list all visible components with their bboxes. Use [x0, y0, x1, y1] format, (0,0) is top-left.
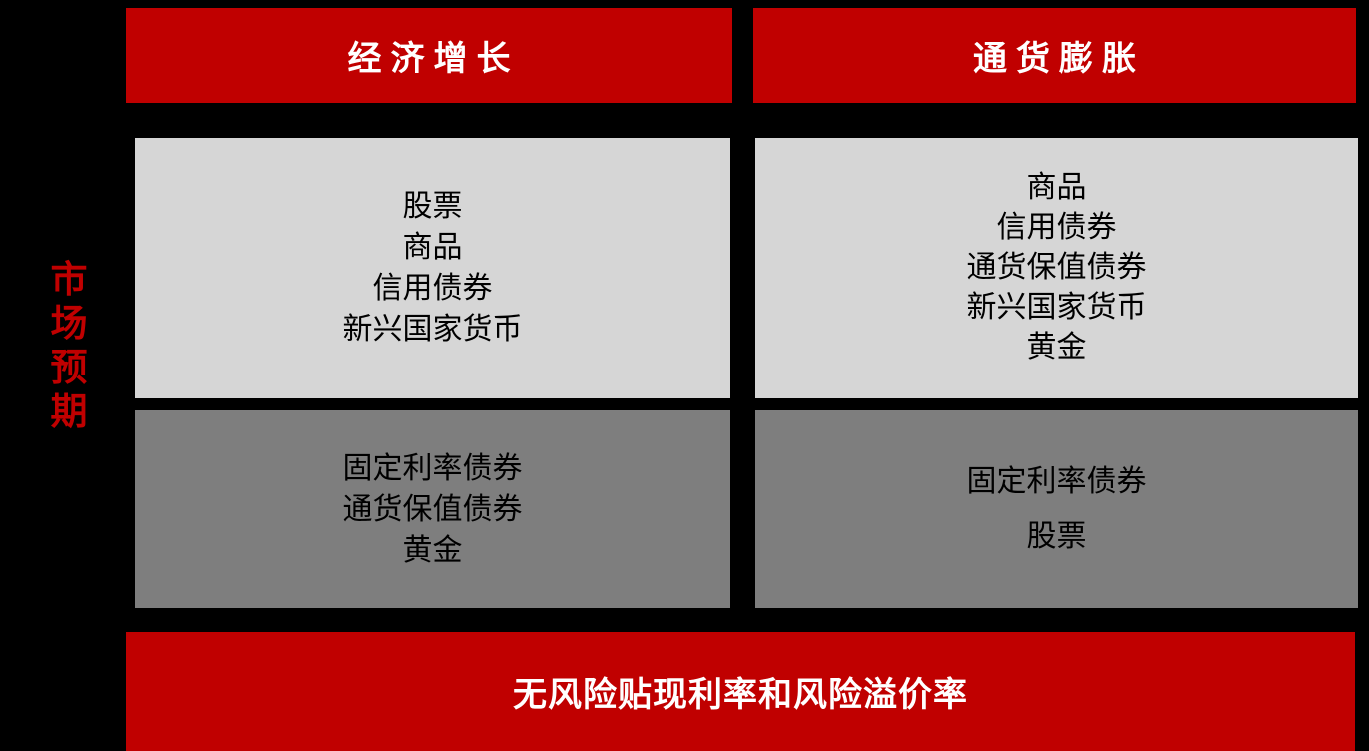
row-axis-label-char-3: 预 [51, 346, 88, 390]
cell-item: 通货保值债券 [967, 248, 1147, 288]
cell-item: 信用债券 [997, 208, 1117, 248]
cell-item: 商品 [403, 227, 463, 268]
cell-item: 黄金 [1027, 328, 1087, 368]
cell-item: 股票 [403, 186, 463, 227]
row-axis-label-char-2: 场 [51, 302, 88, 346]
cell-item: 信用债券 [373, 268, 493, 309]
row-axis-label-char-1: 市 [51, 258, 88, 302]
cell-item: 固定利率债券 [343, 448, 523, 489]
cell-item: 固定利率债券 [967, 454, 1147, 509]
cell-inflation-expected: 商品 信用债券 通货保值债券 新兴国家货币 黄金 [755, 138, 1358, 398]
cell-item: 股票 [1027, 509, 1087, 564]
cell-growth-expected: 股票 商品 信用债券 新兴国家货币 [135, 138, 730, 398]
column-header-inflation: 通货膨胀 [753, 8, 1356, 103]
quadrant-diagram: 市 场 预 期 经济增长 通货膨胀 股票 商品 信用债券 新兴国家货币 商品 信… [0, 0, 1369, 751]
cell-item: 新兴国家货币 [967, 288, 1147, 328]
row-axis-label: 市 场 预 期 [44, 258, 94, 433]
cell-inflation-unexpected: 固定利率债券 股票 [755, 410, 1358, 608]
cell-item: 通货保值债券 [343, 489, 523, 530]
cell-item: 商品 [1027, 168, 1087, 208]
footer-label: 无风险贴现利率和风险溢价率 [126, 632, 1355, 751]
cell-item: 新兴国家货币 [343, 309, 523, 350]
cell-item: 黄金 [403, 530, 463, 571]
cell-growth-unexpected: 固定利率债券 通货保值债券 黄金 [135, 410, 730, 608]
row-axis-label-char-4: 期 [51, 390, 88, 434]
column-header-economic-growth: 经济增长 [126, 8, 732, 103]
